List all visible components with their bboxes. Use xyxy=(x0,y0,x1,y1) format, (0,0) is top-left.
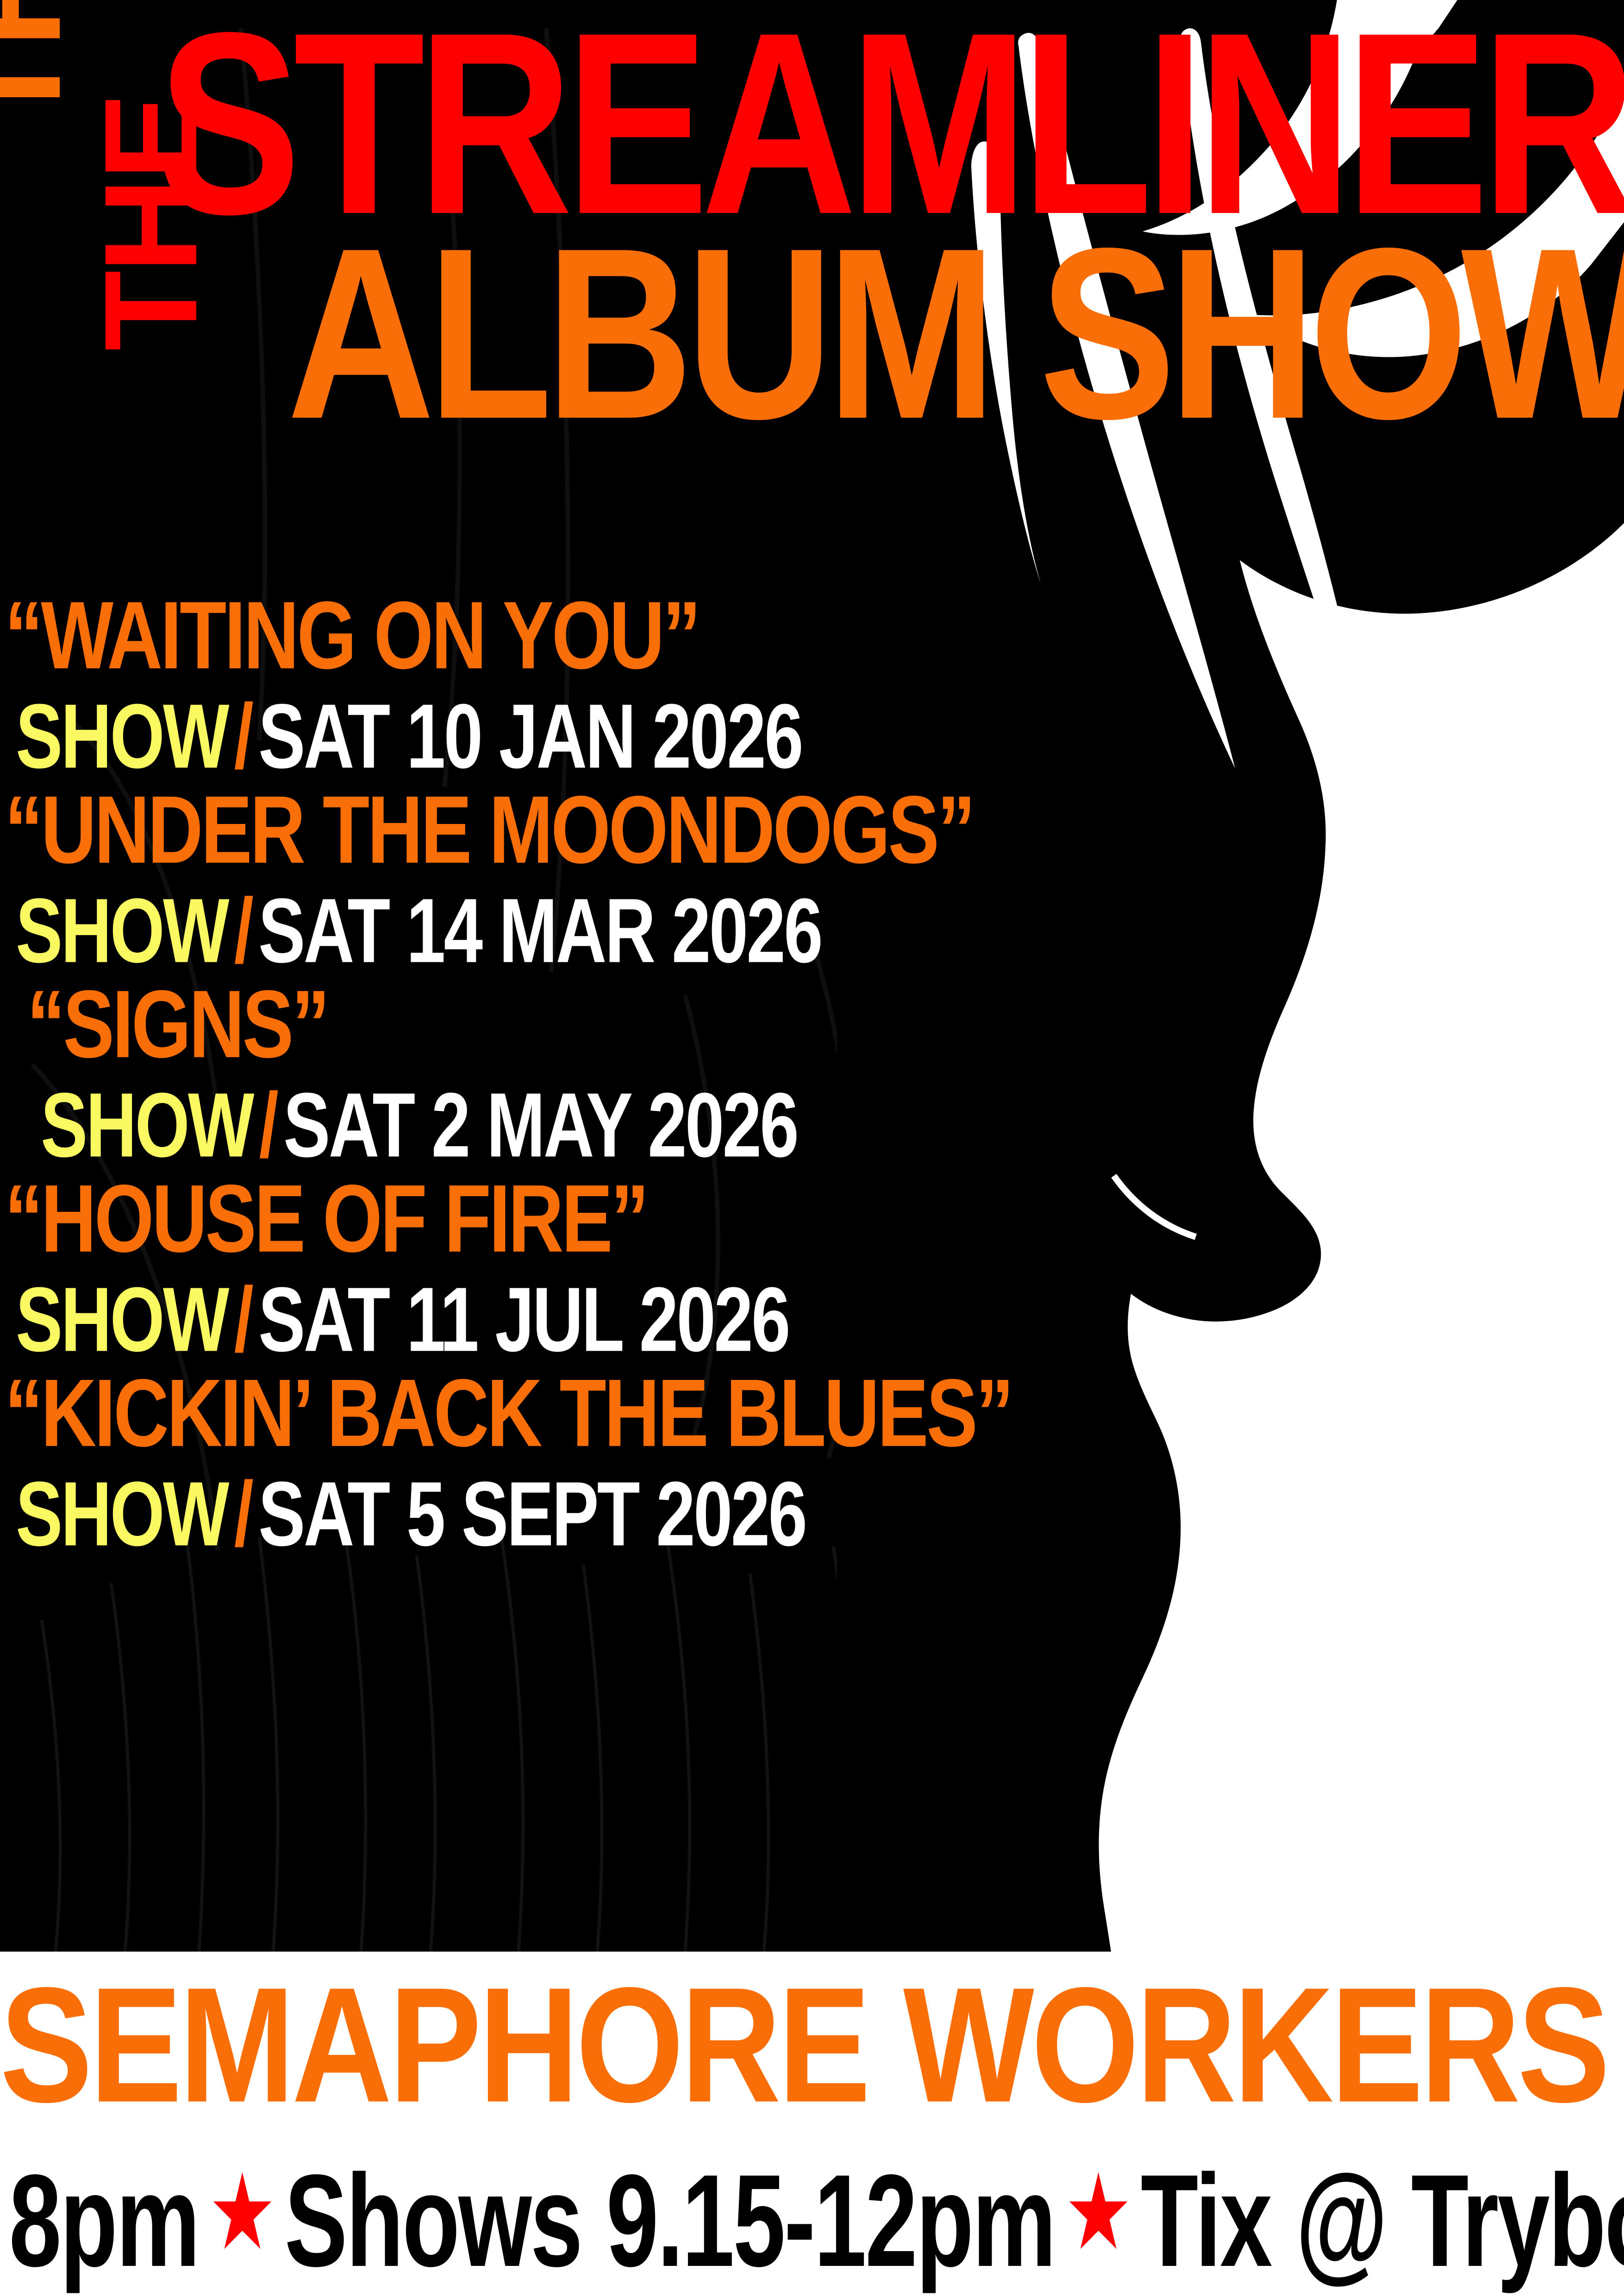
show-item: “WAITING ON YOU” SHOW / SAT 10 JAN 2026 xyxy=(0,588,1157,761)
show-label: SHOW xyxy=(16,1274,228,1366)
series-name: ALBUM SHOWS xyxy=(287,239,1624,429)
show-item: “HOUSE OF FIRE” SHOW / SAT 11 JUL 2026 xyxy=(0,1171,1157,1344)
show-album-title: “HOUSE OF FIRE” xyxy=(0,1171,1157,1267)
show-date-line: SHOW / SAT 11 JUL 2026 xyxy=(0,1274,1157,1366)
show-separator: / xyxy=(228,885,258,977)
show-item: “KICKIN’ BACK THE BLUES” SHOW / SAT 5 SE… xyxy=(0,1366,1157,1539)
show-item: “SIGNS” SHOW / SAT 2 MAY 2026 xyxy=(0,977,1157,1150)
show-date: SAT 11 JUL 2026 xyxy=(258,1274,789,1366)
show-label: SHOW xyxy=(16,1468,228,1560)
show-date-line: SHOW / SAT 10 JAN 2026 xyxy=(0,691,1157,782)
show-times: Shows 9.15-12pm xyxy=(285,2155,1055,2287)
ticket-info: Tix @ Trybooking xyxy=(1141,2155,1624,2287)
show-list: “WAITING ON YOU” SHOW / SAT 10 JAN 2026 … xyxy=(0,588,1157,1560)
show-separator: / xyxy=(228,1468,258,1560)
show-separator: / xyxy=(253,1079,283,1171)
show-item: “UNDER THE MOONDOGS” SHOW / SAT 14 MAR 2… xyxy=(0,782,1157,955)
show-date: SAT 10 JAN 2026 xyxy=(258,691,802,782)
show-separator: / xyxy=(228,1274,258,1366)
footer-info-line: Doors 8pm ★ Shows 9.15-12pm ★ Tix @ Tryb… xyxy=(25,2155,1600,2287)
show-date: SAT 5 SEPT 2026 xyxy=(258,1468,806,1560)
show-album-title: “KICKIN’ BACK THE BLUES” xyxy=(0,1366,1157,1462)
poster-title-block: THE STREAMLINERS THE ALBUM SHOWS xyxy=(0,0,1624,454)
gig-poster: THE STREAMLINERS THE ALBUM SHOWS “WAITIN… xyxy=(0,0,1624,2296)
show-date-line: SHOW / SAT 2 MAY 2026 xyxy=(0,1079,1157,1171)
show-album-title: “UNDER THE MOONDOGS” xyxy=(0,782,1157,879)
poster-stage: THE STREAMLINERS THE ALBUM SHOWS “WAITIN… xyxy=(0,0,1624,1952)
show-album-title: “WAITING ON YOU” xyxy=(0,588,1157,684)
show-label: SHOW xyxy=(41,1079,253,1171)
the-word-top: THE xyxy=(0,0,67,130)
show-date-line: SHOW / SAT 14 MAR 2026 xyxy=(0,885,1157,977)
poster-footer: SEMAPHORE WORKERS CLUB Doors 8pm ★ Shows… xyxy=(0,1952,1624,2296)
venue-name: SEMAPHORE WORKERS CLUB xyxy=(0,1963,1624,2127)
show-date: SAT 2 MAY 2026 xyxy=(283,1079,797,1171)
show-label: SHOW xyxy=(16,691,228,782)
doors-time: Doors 8pm xyxy=(0,2155,199,2287)
star-icon-right: ★ xyxy=(1068,2165,1127,2259)
show-album-title: “SIGNS” xyxy=(0,977,1157,1073)
show-date-line: SHOW / SAT 5 SEPT 2026 xyxy=(0,1468,1157,1560)
show-label: SHOW xyxy=(16,885,228,977)
show-date: SAT 14 MAR 2026 xyxy=(258,885,821,977)
show-separator: / xyxy=(228,691,258,782)
the-word-bottom: THE xyxy=(98,95,204,351)
band-name: STREAMLINERS xyxy=(157,22,1624,225)
star-icon-left: ★ xyxy=(212,2165,271,2259)
